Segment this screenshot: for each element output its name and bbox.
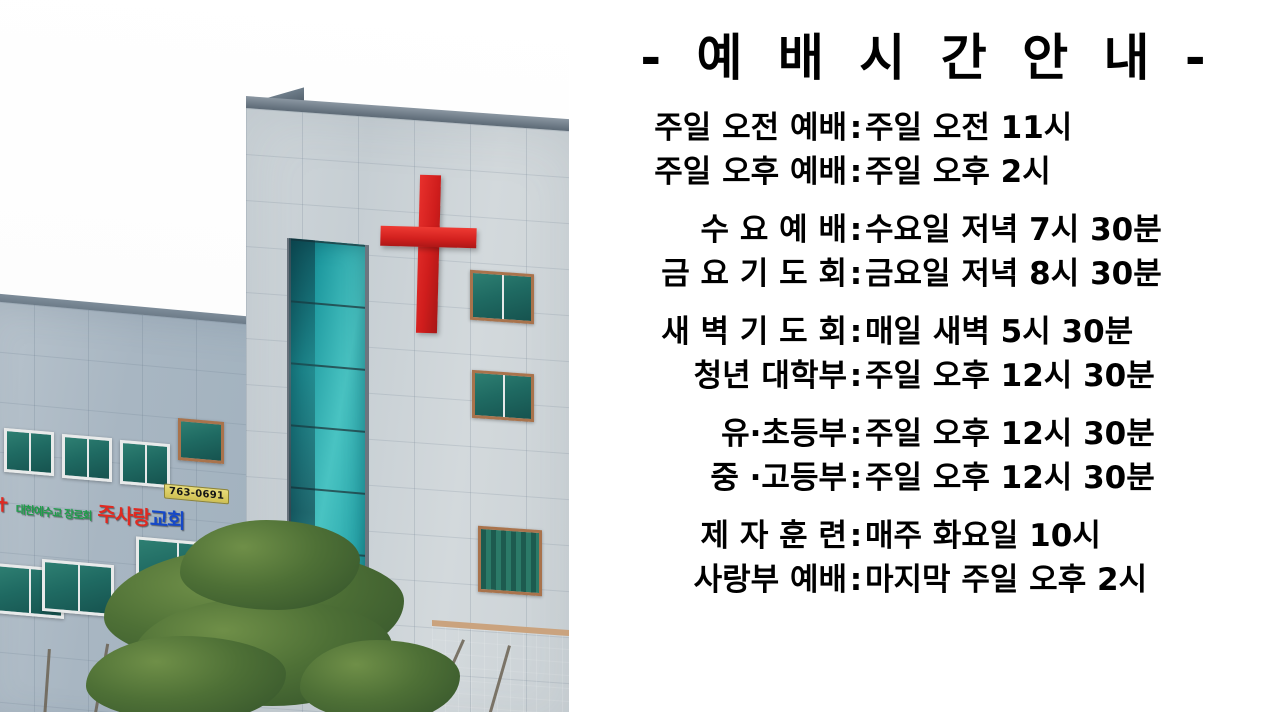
schedule-row-value: 주일 오전 11시: [865, 106, 1072, 150]
window: [42, 559, 114, 617]
window-mullion: [503, 375, 505, 417]
schedule-row: 주일 오전 예배:주일 오전 11시: [575, 106, 1280, 150]
schedule-row-label: 유·초등부: [575, 412, 847, 456]
schedule-row-separator: :: [847, 310, 865, 354]
church-building-photo: ✝ 대한예수교 장로회 주사랑교회 763-0691: [0, 0, 569, 712]
schedule-row-value: 주일 오후 2시: [865, 150, 1051, 194]
schedule-row: 금 요 기 도 회:금요일 저녁 8시 30분: [575, 252, 1280, 296]
schedule-row-label: 주일 오전 예배: [575, 106, 847, 150]
schedule-row-label: 중 ·고등부: [575, 456, 847, 500]
schedule-row-separator: :: [847, 412, 865, 456]
schedule-row-label: 청년 대학부: [575, 354, 847, 398]
schedule-row-value: 주일 오후 12시 30분: [865, 412, 1155, 456]
schedule-row-separator: :: [847, 252, 865, 296]
schedule-row: 청년 대학부:주일 오후 12시 30분: [575, 354, 1280, 398]
signboard-name-red: 주사랑: [98, 501, 150, 530]
window: [472, 370, 534, 422]
schedule-row: 주일 오후 예배:주일 오후 2시: [575, 150, 1280, 194]
window-mullion: [78, 565, 80, 611]
schedule-group: 유·초등부:주일 오후 12시 30분중 ·고등부:주일 오후 12시 30분: [575, 412, 1280, 500]
window: [120, 440, 170, 488]
window: [178, 418, 224, 464]
schedule-row-separator: :: [847, 150, 865, 194]
cross-vertical-bar: [416, 175, 441, 333]
pine-tree-foliage: [180, 520, 360, 610]
schedule-row-value: 마지막 주일 오후 2시: [865, 558, 1147, 602]
window-mullion: [29, 569, 31, 613]
schedule-row-separator: :: [847, 106, 865, 150]
schedule-row: 제 자 훈 련:매주 화요일 10시: [575, 514, 1280, 558]
window-mullion: [145, 445, 147, 483]
cross-horizontal-bar: [380, 226, 476, 249]
schedule-row-label: 주일 오후 예배: [575, 150, 847, 194]
schedule-row-label: 금 요 기 도 회: [575, 252, 847, 296]
window-mullion: [502, 275, 504, 319]
window-mullion: [87, 439, 89, 477]
schedule-group: 새 벽 기 도 회:매일 새벽 5시 30분청년 대학부:주일 오후 12시 3…: [575, 310, 1280, 398]
service-schedule-panel: - 예 배 시 간 안 내 - 주일 오전 예배:주일 오전 11시주일 오후 …: [575, 0, 1280, 720]
schedule-row: 새 벽 기 도 회:매일 새벽 5시 30분: [575, 310, 1280, 354]
schedule-row-separator: :: [847, 354, 865, 398]
schedule-row-value: 주일 오후 12시 30분: [865, 354, 1155, 398]
schedule-row-value: 수요일 저녁 7시 30분: [865, 208, 1162, 252]
cross-glyph: ✝: [0, 492, 10, 517]
schedule-row-label: 새 벽 기 도 회: [575, 310, 847, 354]
schedule-row-label: 제 자 훈 련: [575, 514, 847, 558]
window-mullion: [29, 433, 31, 471]
schedule-row-value: 금요일 저녁 8시 30분: [865, 252, 1162, 296]
window: [470, 270, 534, 324]
red-cross-icon: [378, 174, 478, 334]
signboard-name-blue: 교회: [150, 506, 185, 533]
window: [4, 428, 54, 476]
schedule-group: 수 요 예 배:수요일 저녁 7시 30분금 요 기 도 회:금요일 저녁 8시…: [575, 208, 1280, 296]
schedule-row-value: 매일 새벽 5시 30분: [865, 310, 1133, 354]
schedule-list: 주일 오전 예배:주일 오전 11시주일 오후 예배:주일 오후 2시수 요 예…: [575, 106, 1280, 616]
schedule-row: 유·초등부:주일 오후 12시 30분: [575, 412, 1280, 456]
schedule-group: 주일 오전 예배:주일 오전 11시주일 오후 예배:주일 오후 2시: [575, 106, 1280, 194]
schedule-row-separator: :: [847, 558, 865, 602]
schedule-row: 중 ·고등부:주일 오후 12시 30분: [575, 456, 1280, 500]
schedule-row-separator: :: [847, 514, 865, 558]
schedule-row: 수 요 예 배:수요일 저녁 7시 30분: [575, 208, 1280, 252]
schedule-row: 사랑부 예배:마지막 주일 오후 2시: [575, 558, 1280, 602]
slide-root: ✝ 대한예수교 장로회 주사랑교회 763-0691 - 예 배 시 간 안 내…: [0, 0, 1280, 720]
schedule-row-value: 주일 오후 12시 30분: [865, 456, 1155, 500]
schedule-row-separator: :: [847, 456, 865, 500]
schedule-group: 제 자 훈 련:매주 화요일 10시사랑부 예배:마지막 주일 오후 2시: [575, 514, 1280, 602]
window: [478, 526, 542, 596]
schedule-row-label: 사랑부 예배: [575, 558, 847, 602]
schedule-row-label: 수 요 예 배: [575, 208, 847, 252]
page-title: - 예 배 시 간 안 내 -: [575, 18, 1280, 90]
schedule-row-separator: :: [847, 208, 865, 252]
window: [62, 434, 112, 482]
schedule-row-value: 매주 화요일 10시: [865, 514, 1101, 558]
